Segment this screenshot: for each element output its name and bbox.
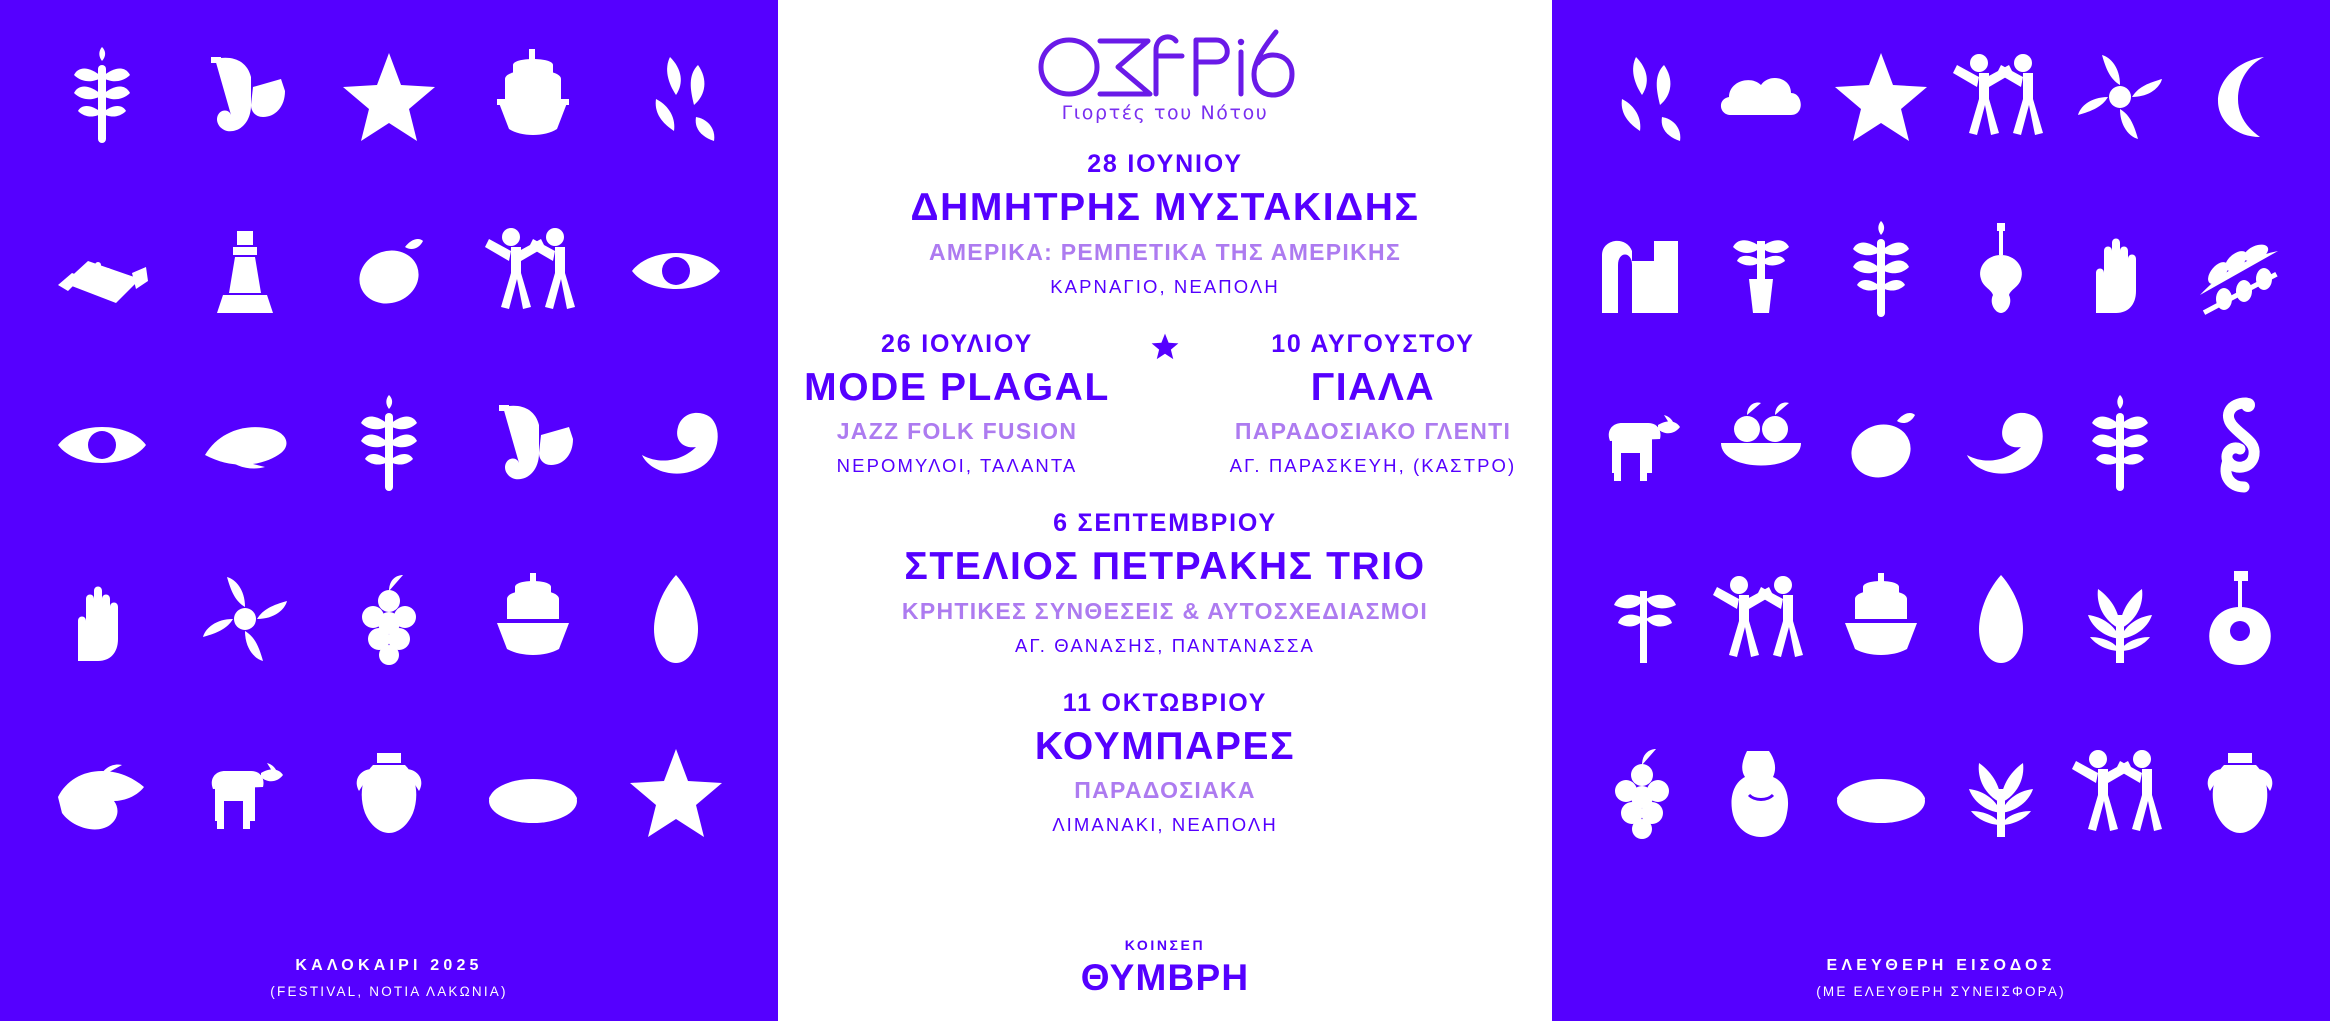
event-description: ΠΑΡΑΔΟΣΙΑΚΑ	[778, 777, 1552, 804]
event-venue: ΛΙΜΑΝΑΚΙ, ΝΕΑΠΟΛΗ	[778, 814, 1552, 836]
event-description: ΠΑΡΑΔΟΣΙΑΚΟ ΓΛΕΝΤΙ	[1194, 418, 1552, 445]
motif-cell	[461, 706, 605, 880]
motif-cell	[2061, 706, 2181, 880]
motif-cell	[461, 532, 605, 706]
motif-cell	[604, 532, 748, 706]
lemon-icon	[339, 221, 439, 321]
motif-cell	[604, 184, 748, 358]
star-icon	[339, 47, 439, 147]
motif-cell	[317, 706, 461, 880]
motif-cell	[1821, 532, 1941, 706]
organizer-kind: ΚΟΙΝΣΕΠ	[778, 937, 1552, 953]
eye-icon	[626, 221, 726, 321]
lemon-icon	[1831, 395, 1931, 495]
motif-cell	[2061, 10, 2181, 184]
motif-cell	[317, 532, 461, 706]
saxophone-icon	[195, 47, 295, 147]
fish-icon	[626, 569, 726, 669]
motif-cell	[1702, 10, 1822, 184]
fern-icon	[52, 47, 152, 147]
palm-leaf-icon	[1592, 569, 1692, 669]
dancers-icon	[1711, 569, 1811, 669]
dancers-icon	[1951, 47, 2051, 147]
star-icon	[1150, 332, 1180, 362]
event-artist-name: MODE PLAGAL	[778, 368, 1136, 409]
brand-lockup: Γιορτές του Νότου	[778, 22, 1552, 124]
fern-icon	[1831, 221, 1931, 321]
flower-icon	[195, 569, 295, 669]
event-item[interactable]: 11 ΟΚΤΩΒΡΙΟΥ ΚΟΥΜΠΑΡΕΣ ΠΑΡΑΔΟΣΙΑΚΑ ΛΙΜΑΝ…	[778, 689, 1552, 837]
event-artist-name: ΣΤΕΛΙΟΣ ΠΕΤΡΑΚΗΣ TRIO	[778, 547, 1552, 588]
motif-cell	[1582, 10, 1702, 184]
event-date: 26 ΙΟΥΛΙΟΥ	[778, 330, 1136, 359]
motif-cell	[2061, 184, 2181, 358]
motif-cell	[174, 706, 318, 880]
event-venue: ΑΓ. ΘΑΝΑΣΗΣ, ΠΑΝΤΑΝΑΣΣΑ	[778, 635, 1552, 657]
leaf-splash-icon	[1592, 47, 1692, 147]
boat-icon	[483, 569, 583, 669]
left-panel-footer: ΚΑΛΟΚΑΙΡΙ 2025 (FESTIVAL, ΝΟΤΙΑ ΛΑΚΩΝΙΑ)	[0, 957, 778, 999]
left-art-panel: ΚΑΛΟΚΑΙΡΙ 2025 (FESTIVAL, ΝΟΤΙΑ ΛΑΚΩΝΙΑ)	[0, 0, 778, 1021]
event-artist-name: ΔΗΜΗΤΡΗΣ ΜΥΣΤΑΚΙΔΗΣ	[778, 188, 1552, 229]
event-artist-name: ΚΟΥΜΠΑΡΕΣ	[778, 727, 1552, 768]
motif-cell	[1821, 10, 1941, 184]
event-description: JAZZ FOLK FUSION	[778, 418, 1136, 445]
motif-cell	[1582, 184, 1702, 358]
event-venue: ΝΕΡΟΜΥΛΟΙ, ΤΑΛΑΝΤΑ	[778, 455, 1136, 477]
left-motif-grid	[0, 0, 778, 880]
brand-tagline: Γιορτές του Νότου	[778, 102, 1552, 124]
motif-cell	[604, 10, 748, 184]
event-venue: ΚΑΡΝΑΓΙΟ, ΝΕΑΠΟΛΗ	[778, 276, 1552, 298]
motif-cell	[1941, 184, 2061, 358]
flower-icon	[2070, 47, 2170, 147]
agave-icon	[2070, 569, 2170, 669]
leaf-splash-icon	[626, 47, 726, 147]
cloud-icon	[1711, 47, 1811, 147]
event-item[interactable]: 6 ΣΕΠΤΕΜΒΡΙΟΥ ΣΤΕΛΙΟΣ ΠΕΤΡΑΚΗΣ TRIO ΚΡΗΤ…	[778, 509, 1552, 657]
motif-cell	[461, 358, 605, 532]
fern-icon	[339, 395, 439, 495]
motif-cell	[317, 184, 461, 358]
center-info-panel: Γιορτές του Νότου 28 ΙΟΥΝΙΟΥ ΔΗΜΗΤΡΗΣ ΜΥ…	[778, 0, 1552, 1021]
event-venue: ΑΓ. ΠΑΡΑΣΚΕΥΗ, (ΚΑΣΤΡΟ)	[1194, 455, 1552, 477]
motif-cell	[30, 184, 174, 358]
event-artist-name: ΓΙΑΛΑ	[1194, 368, 1552, 409]
hand-icon	[2070, 221, 2170, 321]
agave-icon	[1951, 743, 2051, 843]
event-item[interactable]: 26 ΙΟΥΛΙΟΥ MODE PLAGAL JAZZ FOLK FUSION …	[778, 330, 1136, 478]
motif-cell	[1941, 10, 2061, 184]
bread-icon	[1831, 743, 1931, 843]
motif-cell	[1941, 706, 2061, 880]
event-date: 11 ΟΚΤΩΒΡΙΟΥ	[778, 689, 1552, 718]
motif-cell	[30, 706, 174, 880]
goat-icon	[1592, 395, 1692, 495]
accordion-icon	[52, 221, 152, 321]
motif-cell	[1702, 706, 1822, 880]
event-date: 28 ΙΟΥΝΙΟΥ	[778, 150, 1552, 179]
motif-cell	[1582, 532, 1702, 706]
swan-icon	[1951, 395, 2051, 495]
dove-icon	[52, 743, 152, 843]
boat-icon	[1831, 569, 1931, 669]
bread-icon	[483, 743, 583, 843]
motif-cell	[30, 358, 174, 532]
event-pair-row: 26 ΙΟΥΛΙΟΥ MODE PLAGAL JAZZ FOLK FUSION …	[778, 330, 1552, 478]
star-icon	[1831, 47, 1931, 147]
star-icon	[626, 743, 726, 843]
event-item[interactable]: 28 ΙΟΥΝΙΟΥ ΔΗΜΗΤΡΗΣ ΜΥΣΤΑΚΙΔΗΣ ΑΜΕΡΙΚΑ: …	[778, 150, 1552, 298]
motif-cell	[1702, 532, 1822, 706]
motif-cell	[1821, 184, 1941, 358]
motif-cell	[2180, 184, 2300, 358]
motif-cell	[2061, 358, 2181, 532]
lemon-bowl-icon	[1711, 395, 1811, 495]
eye-icon	[52, 395, 152, 495]
amphora-icon	[339, 743, 439, 843]
osyria-wordmark-icon	[1030, 22, 1300, 100]
saxophone-icon	[483, 395, 583, 495]
motif-cell	[1702, 358, 1822, 532]
violin-icon	[1951, 221, 2051, 321]
motif-cell	[2180, 10, 2300, 184]
hand-icon	[52, 569, 152, 669]
right-art-panel: ΕΛΕΥΘΕΡΗ ΕΙΣΟΔΟΣ (ΜΕ ΕΛΕΥΘΕΡΗ ΣΥΝΕΙΣΦΟΡΑ…	[1552, 0, 2330, 1021]
motif-cell	[2180, 532, 2300, 706]
organizer-lockup: ΚΟΙΝΣΕΠ ΘΥΜΒΡΗ	[778, 937, 1552, 999]
event-date: 6 ΣΕΠΤΕΜΒΡΙΟΥ	[778, 509, 1552, 538]
event-item[interactable]: 10 ΑΥΓΟΥΣΤΟΥ ΓΙΑΛΑ ΠΑΡΑΔΟΣΙΑΚΟ ΓΛΕΝΤΙ ΑΓ…	[1194, 330, 1552, 478]
motif-cell	[604, 706, 748, 880]
motif-cell	[1582, 358, 1702, 532]
right-motif-grid	[1552, 0, 2330, 880]
motif-cell	[2180, 358, 2300, 532]
event-list: 28 ΙΟΥΝΙΟΥ ΔΗΜΗΤΡΗΣ ΜΥΣΤΑΚΙΔΗΣ ΑΜΕΡΙΚΑ: …	[778, 150, 1552, 868]
palm-vase-icon	[1711, 221, 1811, 321]
motif-cell	[2061, 532, 2181, 706]
motif-cell	[1821, 358, 1941, 532]
motif-cell	[461, 10, 605, 184]
amphora-icon	[2190, 743, 2290, 843]
motif-cell	[174, 532, 318, 706]
motif-cell	[1582, 706, 1702, 880]
motif-cell	[174, 184, 318, 358]
bird-wing-icon	[195, 395, 295, 495]
left-footer-headline: ΚΑΛΟΚΑΙΡΙ 2025	[0, 957, 778, 975]
torso-icon	[1711, 743, 1811, 843]
event-description: ΑΜΕΡΙΚΑ: ΡΕΜΠΕΤΙΚΑ ΤΗΣ ΑΜΕΡΙΚΗΣ	[778, 239, 1552, 266]
grapes-icon	[339, 569, 439, 669]
fern-icon	[2070, 395, 2170, 495]
left-footer-subline: (FESTIVAL, ΝΟΤΙΑ ΛΑΚΩΝΙΑ)	[0, 984, 778, 999]
swan-icon	[626, 395, 726, 495]
grapes-icon	[1592, 743, 1692, 843]
motif-cell	[2180, 706, 2300, 880]
star-divider	[1136, 330, 1194, 362]
motif-cell	[174, 358, 318, 532]
motif-cell	[317, 10, 461, 184]
motif-cell	[317, 358, 461, 532]
dancers-icon	[2070, 743, 2170, 843]
event-description: ΚΡΗΤΙΚΕΣ ΣΥΝΘΕΣΕΙΣ & ΑΥΤΟΣΧΕΔΙΑΣΜΟΙ	[778, 598, 1552, 625]
motif-cell	[604, 358, 748, 532]
motif-cell	[1941, 532, 2061, 706]
stone-arch-icon	[1592, 221, 1692, 321]
right-footer-headline: ΕΛΕΥΘΕΡΗ ΕΙΣΟΔΟΣ	[1552, 957, 2330, 975]
moon-icon	[2190, 47, 2290, 147]
fishing-boat-icon	[483, 47, 583, 147]
motif-cell	[1702, 184, 1822, 358]
organizer-name: ΘΥΜΒΡΗ	[778, 957, 1552, 999]
lute-icon	[2190, 569, 2290, 669]
event-date: 10 ΑΥΓΟΥΣΤΟΥ	[1194, 330, 1552, 359]
motif-cell	[30, 10, 174, 184]
right-panel-footer: ΕΛΕΥΘΕΡΗ ΕΙΣΟΔΟΣ (ΜΕ ΕΛΕΥΘΕΡΗ ΣΥΝΕΙΣΦΟΡΑ…	[1552, 957, 2330, 999]
goat-icon	[195, 743, 295, 843]
motif-cell	[1941, 358, 2061, 532]
motif-cell	[1821, 706, 1941, 880]
olive-branch-icon	[2190, 221, 2290, 321]
motif-cell	[30, 532, 174, 706]
snake-icon	[2190, 395, 2290, 495]
motif-cell	[461, 184, 605, 358]
right-footer-subline: (ΜΕ ΕΛΕΥΘΕΡΗ ΣΥΝΕΙΣΦΟΡΑ)	[1552, 984, 2330, 999]
dancers-icon	[483, 221, 583, 321]
festival-poster: ΚΑΛΟΚΑΙΡΙ 2025 (FESTIVAL, ΝΟΤΙΑ ΛΑΚΩΝΙΑ)	[0, 0, 2330, 1021]
fish-icon	[1951, 569, 2051, 669]
lighthouse-icon	[195, 221, 295, 321]
motif-cell	[174, 10, 318, 184]
